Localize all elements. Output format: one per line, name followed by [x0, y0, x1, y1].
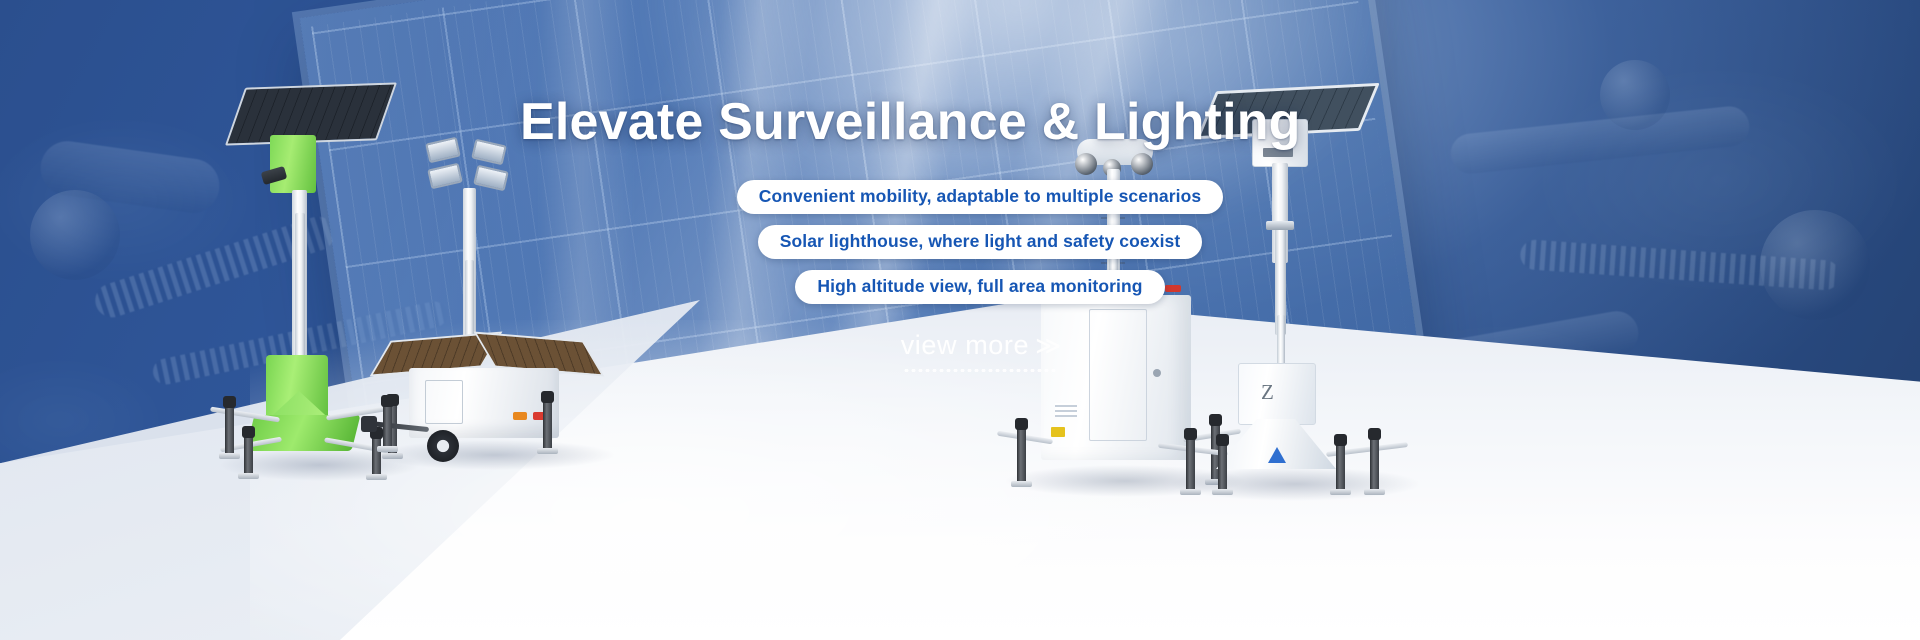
view-more-inner[interactable]: view more≫ [901, 330, 1060, 372]
chevron-double-right-icon: ≫ [1035, 332, 1059, 360]
feature-pill-1: Convenient mobility, adaptable to multip… [737, 180, 1223, 214]
view-more-cta[interactable]: view more≫ [520, 330, 1440, 372]
feature-list: Convenient mobility, adaptable to multip… [520, 180, 1440, 315]
feature-pill-3: High altitude view, full area monitoring [795, 270, 1164, 304]
view-more-dotted-rule [903, 369, 1058, 372]
hero-banner: Z Elevate Surveillance & Lighting Conven… [0, 0, 1920, 640]
feature-pill-2: Solar lighthouse, where light and safety… [758, 225, 1203, 259]
view-more-label: view more [901, 330, 1029, 360]
banner-copy: Elevate Surveillance & Lighting Convenie… [0, 0, 1920, 640]
page-title: Elevate Surveillance & Lighting [520, 96, 1440, 148]
